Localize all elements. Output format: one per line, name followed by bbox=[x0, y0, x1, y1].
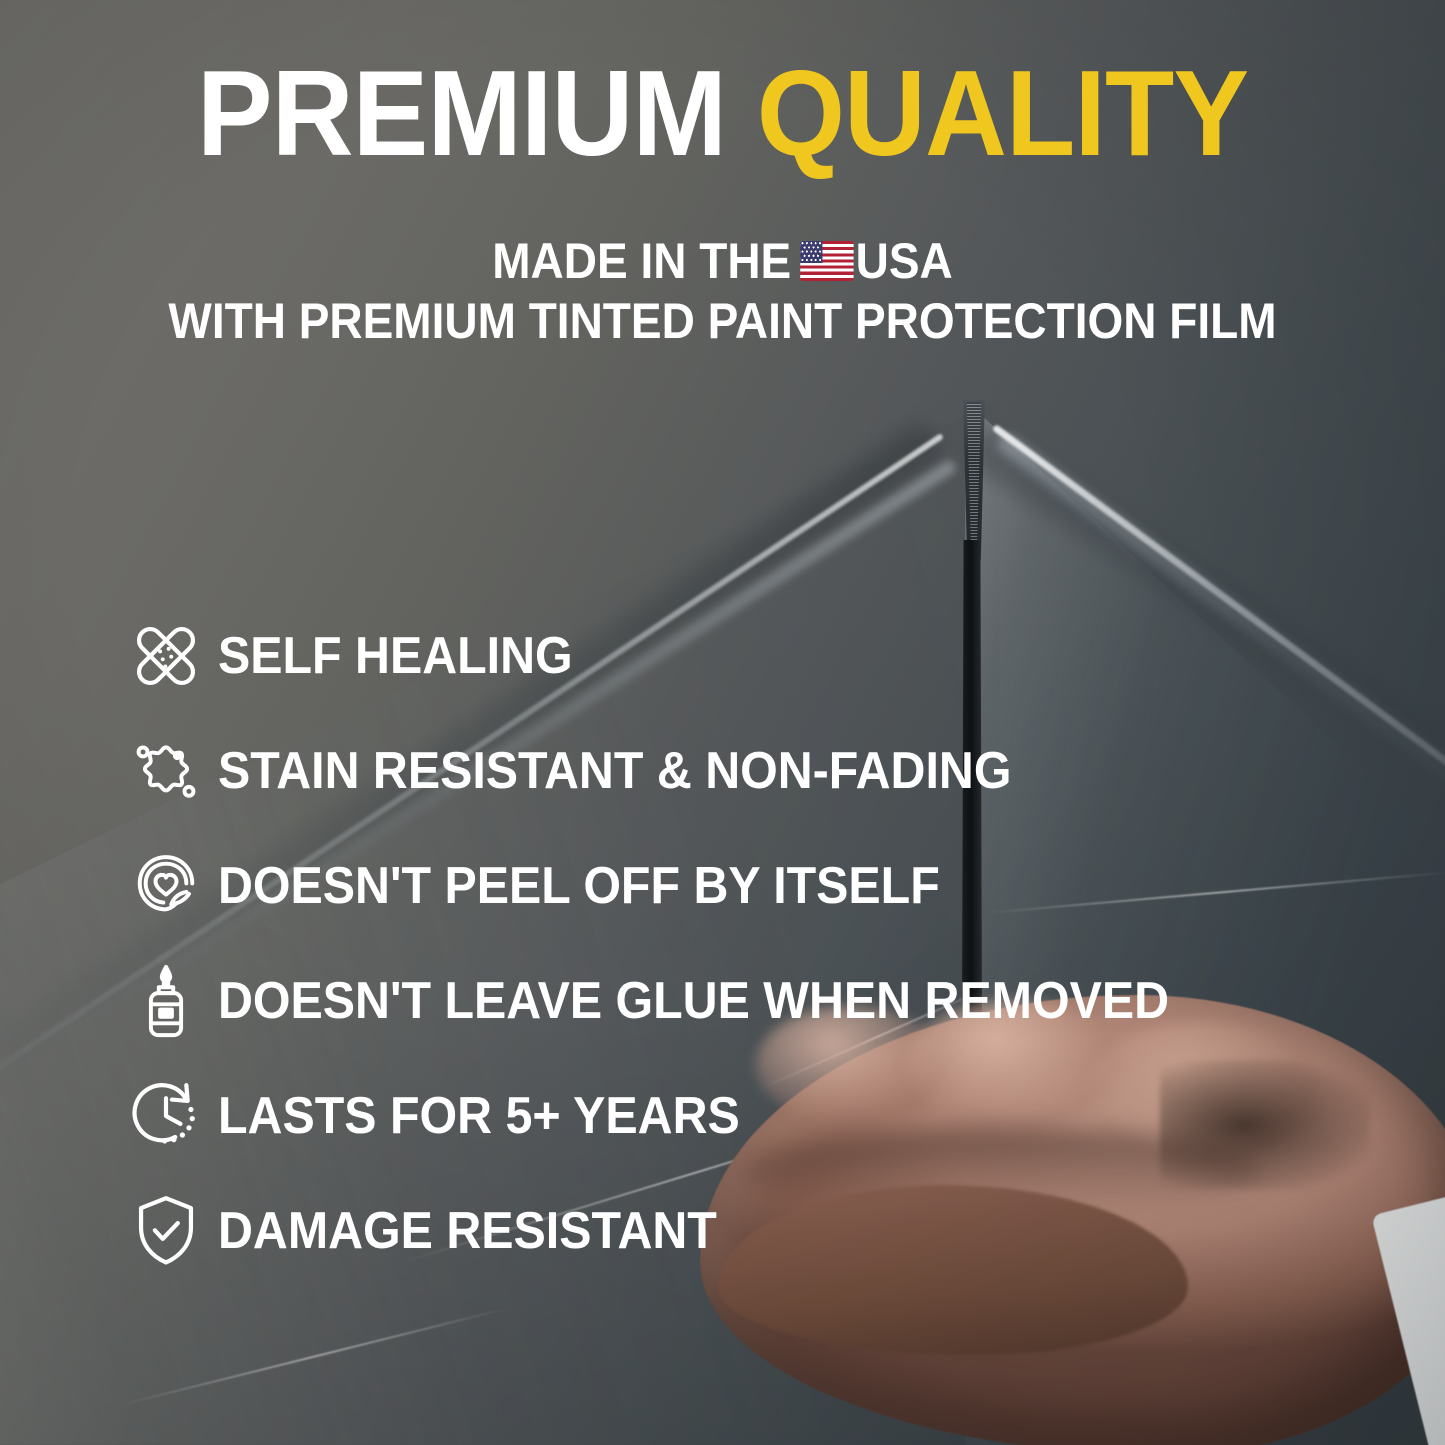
clock-arrow-icon bbox=[118, 1073, 214, 1159]
glue-bottle-icon bbox=[118, 958, 214, 1044]
feature-label: LASTS FOR 5+ YEARS bbox=[218, 1086, 740, 1146]
subtitle-film-description: WITH PREMIUM TINTED PAINT PROTECTION FIL… bbox=[58, 292, 1387, 350]
peeling-sticker-heart-icon bbox=[118, 843, 214, 929]
subtitle-text-before-flag: MADE IN THE bbox=[492, 232, 791, 290]
feature-label: DAMAGE RESISTANT bbox=[218, 1201, 717, 1261]
feature-list: SELF HEALING STAIN RESISTANT & NON-FADIN… bbox=[118, 598, 1358, 1288]
headline-word-quality: QUALITY bbox=[757, 45, 1248, 181]
feature-item-no-glue-residue: DOESN'T LEAVE GLUE WHEN REMOVED bbox=[118, 943, 1358, 1058]
subtitle-made-in-usa: MADE IN THE USA bbox=[58, 232, 1387, 290]
feature-item-longevity: LASTS FOR 5+ YEARS bbox=[118, 1058, 1358, 1173]
stain-splatter-icon bbox=[118, 728, 214, 814]
subtitle-text-usa: USA bbox=[856, 232, 953, 290]
feature-label: DOESN'T PEEL OFF BY ITSELF bbox=[218, 856, 940, 916]
poster-content: PREMIUM QUALITY MADE IN THE USA WITH PRE… bbox=[0, 0, 1445, 1445]
feature-label: SELF HEALING bbox=[218, 626, 573, 686]
feature-item-stain-resistant: STAIN RESISTANT & NON-FADING bbox=[118, 713, 1358, 828]
product-feature-poster: PREMIUM QUALITY MADE IN THE USA WITH PRE… bbox=[0, 0, 1445, 1445]
us-flag-icon bbox=[800, 241, 853, 281]
feature-item-damage-resistant: DAMAGE RESISTANT bbox=[118, 1173, 1358, 1288]
shield-check-icon bbox=[118, 1188, 214, 1274]
page-title: PREMIUM QUALITY bbox=[51, 52, 1395, 174]
feature-label: DOESN'T LEAVE GLUE WHEN REMOVED bbox=[218, 971, 1169, 1031]
bandage-cross-icon bbox=[118, 613, 214, 699]
flag-stars bbox=[800, 241, 822, 263]
headline-word-premium: PREMIUM bbox=[197, 45, 726, 181]
feature-item-self-healing: SELF HEALING bbox=[118, 598, 1358, 713]
feature-label: STAIN RESISTANT & NON-FADING bbox=[218, 741, 1011, 801]
feature-item-no-peel: DOESN'T PEEL OFF BY ITSELF bbox=[118, 828, 1358, 943]
